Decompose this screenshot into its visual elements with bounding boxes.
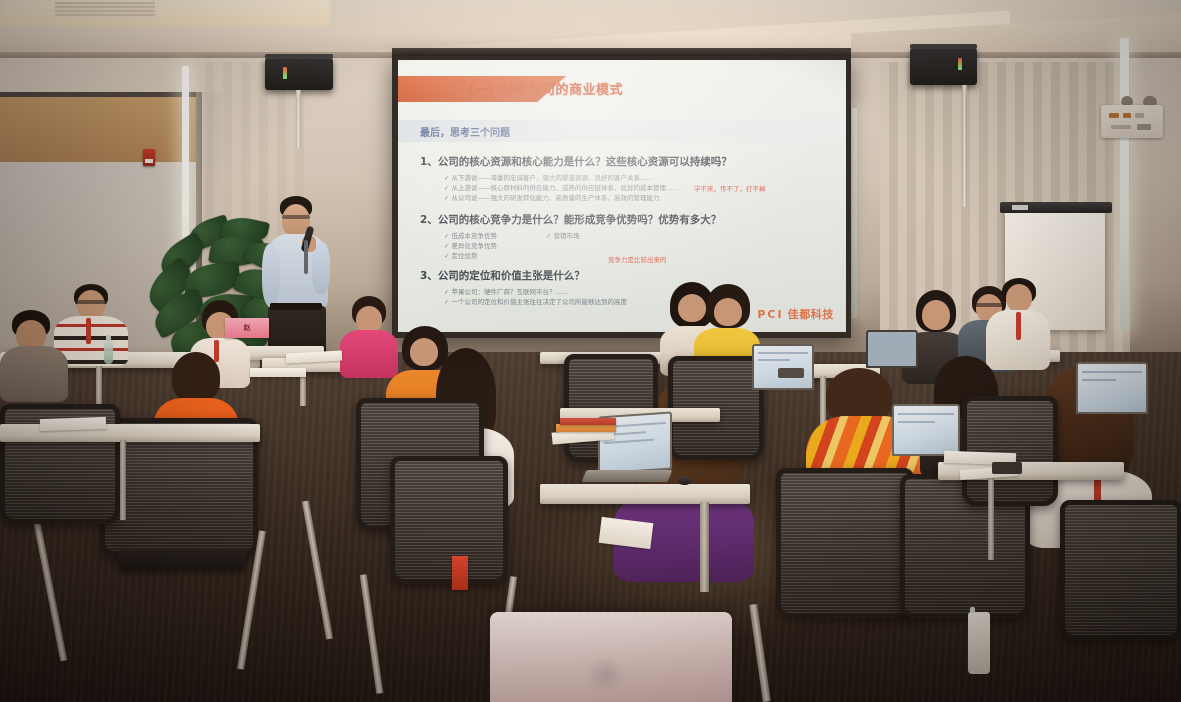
slide-subbanner-text: 最后，思考三个问题 <box>420 124 510 139</box>
question-2-num: 2、 <box>420 214 438 226</box>
hp-logo-icon <box>584 658 628 692</box>
slide-canvas: （一）分析公司的商业模式 最后，思考三个问题 1、公司的核心资源和核心能力是什么… <box>398 60 846 332</box>
laptop-foreground-white[interactable] <box>490 612 732 702</box>
question-1-bullet-2: ✓ 从上游说——核心原材料的供应能力、成熟的供应链体系、优异的成本管理…… <box>444 183 679 193</box>
namecard: 赵 <box>225 318 269 338</box>
attendee-back-2 <box>0 310 72 400</box>
ceiling-speaker-left <box>265 58 333 90</box>
laptop-keyboard[interactable] <box>582 470 673 482</box>
ceiling-vent <box>55 2 155 18</box>
question-1-num: 1、 <box>420 156 438 168</box>
glasses-icon <box>75 300 107 304</box>
table-leg-right <box>988 478 994 560</box>
laptop-lid-white <box>490 612 732 702</box>
table-leg-front-1 <box>120 440 126 520</box>
question-3-bullet-1: ✓ 苹果公司：硬件厂商？互联网平台？…… <box>444 287 569 297</box>
wall-wood-trim <box>0 96 196 162</box>
question-2-bullet-3: ✓ 定位优势 <box>444 251 478 261</box>
ceiling-cove-light <box>0 0 330 26</box>
chair-seat-front-left <box>118 548 246 570</box>
presenter <box>258 196 338 366</box>
wall-control-panel[interactable] <box>1101 105 1163 138</box>
fire-alarm-icon <box>143 149 155 166</box>
laptop-back-center[interactable] <box>752 344 814 390</box>
device-right[interactable] <box>992 462 1022 474</box>
table-front-left <box>0 424 260 442</box>
question-1: 1、公司的核心资源和核心能力是什么？这些核心资源可以持续吗？ <box>420 154 732 169</box>
question-2-bullet-1: ✓ 低成本竞争优势 <box>444 231 497 241</box>
laptop-right[interactable] <box>892 404 960 456</box>
light-strip-right <box>1120 38 1129 330</box>
laptop-back-right[interactable] <box>866 330 918 368</box>
presenter-arm-left <box>262 244 280 306</box>
notebook-red <box>560 418 616 425</box>
speaker-led-left <box>283 67 287 79</box>
screenshot-root: ⇤🅿→ （一）分析公司的商业模式 最后，思考三个问题 1、公司的核心资源和核心能… <box>0 0 1181 702</box>
projection-screen: （一）分析公司的商业模式 最后，思考三个问题 1、公司的核心资源和核心能力是什么… <box>392 56 851 338</box>
slide-title: （一）分析公司的商业模式 <box>461 79 801 98</box>
speaker-pole-left <box>296 90 301 148</box>
question-2-bullet-2: ✓ 差异化竞争优势 <box>444 241 497 251</box>
question-2-text: 公司的核心竞争力是什么？能形成竞争优势吗？优势有多大？ <box>438 214 722 226</box>
question-2: 2、公司的核心竞争力是什么？能形成竞争优势吗？优势有多大？ <box>420 212 721 227</box>
question-1-red-note: 学不来，传不了，打不掉 <box>694 183 766 193</box>
ceiling-speaker-right <box>910 48 977 85</box>
question-3-num: 3、 <box>420 270 438 282</box>
notebook-orange <box>556 424 616 432</box>
presenter-belt <box>270 303 322 310</box>
question-1-bullet-1: ✓ 从下游说——海量的忠诚客户、强大的渠道资源、良好的客户关系…… <box>444 173 653 183</box>
table-leg-center <box>700 502 709 592</box>
question-1-text: 公司的核心资源和核心能力是什么？这些核心资源可以持续吗？ <box>438 156 732 168</box>
water-bottle[interactable] <box>104 340 113 364</box>
speaker-pole-right <box>962 85 967 207</box>
question-3-text: 公司的定位和价值主张是什么？ <box>438 270 585 282</box>
paper-left <box>40 417 106 431</box>
cup-foreground[interactable] <box>968 612 990 674</box>
pci-logo-text: 佳都科技 <box>788 306 834 322</box>
chair-right-front[interactable] <box>776 468 914 618</box>
pci-logo: PCI 佳都科技 <box>757 306 834 322</box>
namecard-red <box>452 556 468 590</box>
flipchart-rail <box>1000 202 1112 213</box>
question-2-bullet-col2-1: ✓ 营销市场 <box>546 231 580 241</box>
question-3: 3、公司的定位和价值主张是什么？ <box>420 268 585 283</box>
chair-right-edge[interactable] <box>1060 500 1181 640</box>
light-strip-center <box>852 108 857 318</box>
table-center <box>540 484 750 504</box>
paper-left-2 <box>250 368 306 377</box>
question-1-bullet-3: ✓ 从公司说——强大的研发转化能力、高质量的生产体系、高效的管理能力 <box>444 193 660 203</box>
question-3-bullet-2: ✓ 一个公司的定位和价值主张往往决定了公司所能够达到的高度 <box>444 297 627 307</box>
speaker-led-right <box>958 58 962 70</box>
phone-on-table[interactable] <box>778 368 804 378</box>
wall-knob-1[interactable] <box>1143 96 1157 105</box>
glasses-icon <box>282 215 310 219</box>
mouse[interactable] <box>678 476 691 485</box>
question-2-red-note: 竞争力是比较出来的 <box>608 254 667 264</box>
wall-knob-2[interactable] <box>1121 96 1133 105</box>
wall-frame-horizontal <box>0 92 202 97</box>
presenter-lanyard <box>304 240 308 274</box>
laptop-right-back[interactable] <box>1076 362 1148 414</box>
chair-mid-left-2[interactable] <box>390 456 508 584</box>
